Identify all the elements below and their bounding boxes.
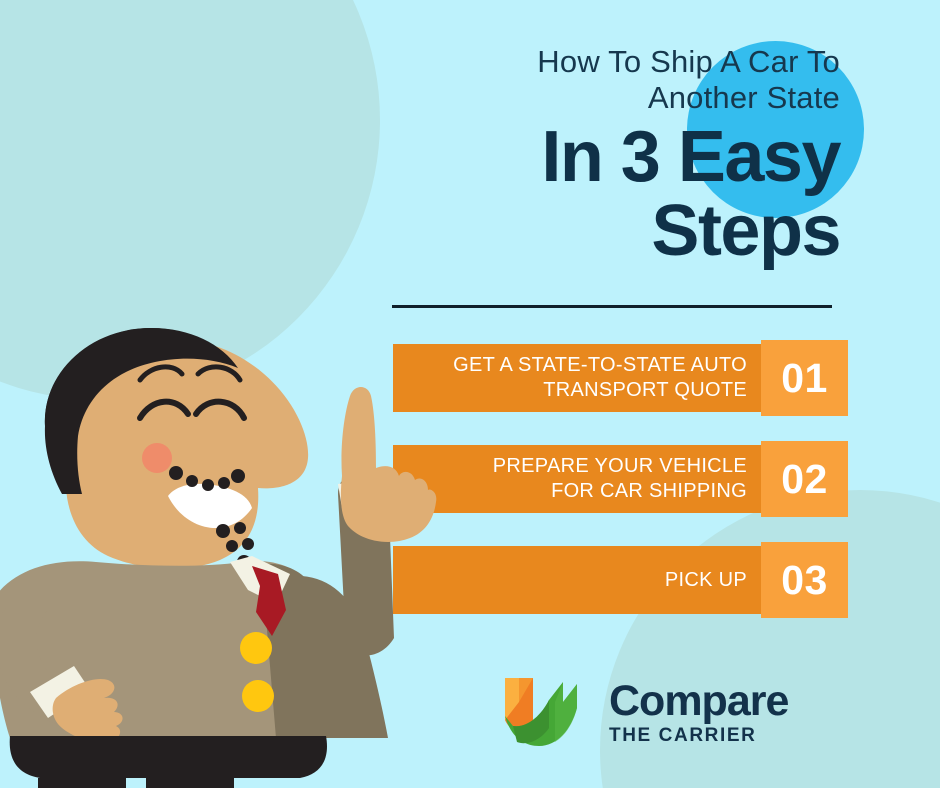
step-label-2: PREPARE YOUR VEHICLE FOR CAR SHIPPING (493, 454, 747, 504)
step-label-3: PICK UP (665, 568, 747, 593)
stubble-dot (226, 540, 238, 552)
step-number-box-1: 01 (761, 340, 848, 416)
jacket-button (242, 680, 274, 712)
stubble-dot (231, 469, 245, 483)
pointing-hand (341, 387, 436, 542)
step-number-2: 02 (781, 456, 828, 503)
subtitle-text: How To Ship A Car To Another State (380, 44, 840, 116)
step-label-1: GET A STATE-TO-STATE AUTO TRANSPORT QUOT… (453, 353, 747, 403)
leg-right (146, 778, 234, 788)
stubble-dot (216, 524, 230, 538)
logo-wordmark: Compare THE CARRIER (609, 680, 788, 745)
stubble-dot (186, 475, 198, 487)
step-number-3: 03 (781, 557, 828, 604)
stubble-dot (242, 538, 254, 550)
leaf-mark-icon (497, 672, 597, 752)
stubble-dot (169, 466, 183, 480)
header-divider (392, 305, 832, 308)
stubble-dot (234, 522, 246, 534)
step-number-box-3: 03 (761, 542, 848, 618)
logo-word-compare: Compare (609, 680, 788, 723)
brand-logo[interactable]: Compare THE CARRIER (497, 672, 788, 752)
businessman-illustration (0, 318, 460, 788)
step-number-box-2: 02 (761, 441, 848, 517)
pants-shape (10, 736, 327, 778)
cheek-blush (142, 443, 172, 473)
infographic-canvas: How To Ship A Car To Another State In 3 … (0, 0, 940, 788)
jacket-button (240, 632, 272, 664)
logo-word-the-carrier: THE CARRIER (609, 726, 788, 745)
step-number-1: 01 (781, 355, 828, 402)
page-title: In 3 Easy Steps (380, 120, 840, 268)
stubble-dot (202, 479, 214, 491)
stubble-dot (218, 477, 230, 489)
leg-left (38, 778, 126, 788)
step-row[interactable]: GET A STATE-TO-STATE AUTO TRANSPORT QUOT… (393, 340, 848, 416)
step-row[interactable]: PREPARE YOUR VEHICLE FOR CAR SHIPPING 02 (393, 441, 848, 517)
step-row[interactable]: PICK UP 03 (393, 542, 848, 618)
header-block: How To Ship A Car To Another State In 3 … (380, 44, 840, 268)
steps-list: GET A STATE-TO-STATE AUTO TRANSPORT QUOT… (393, 340, 848, 643)
